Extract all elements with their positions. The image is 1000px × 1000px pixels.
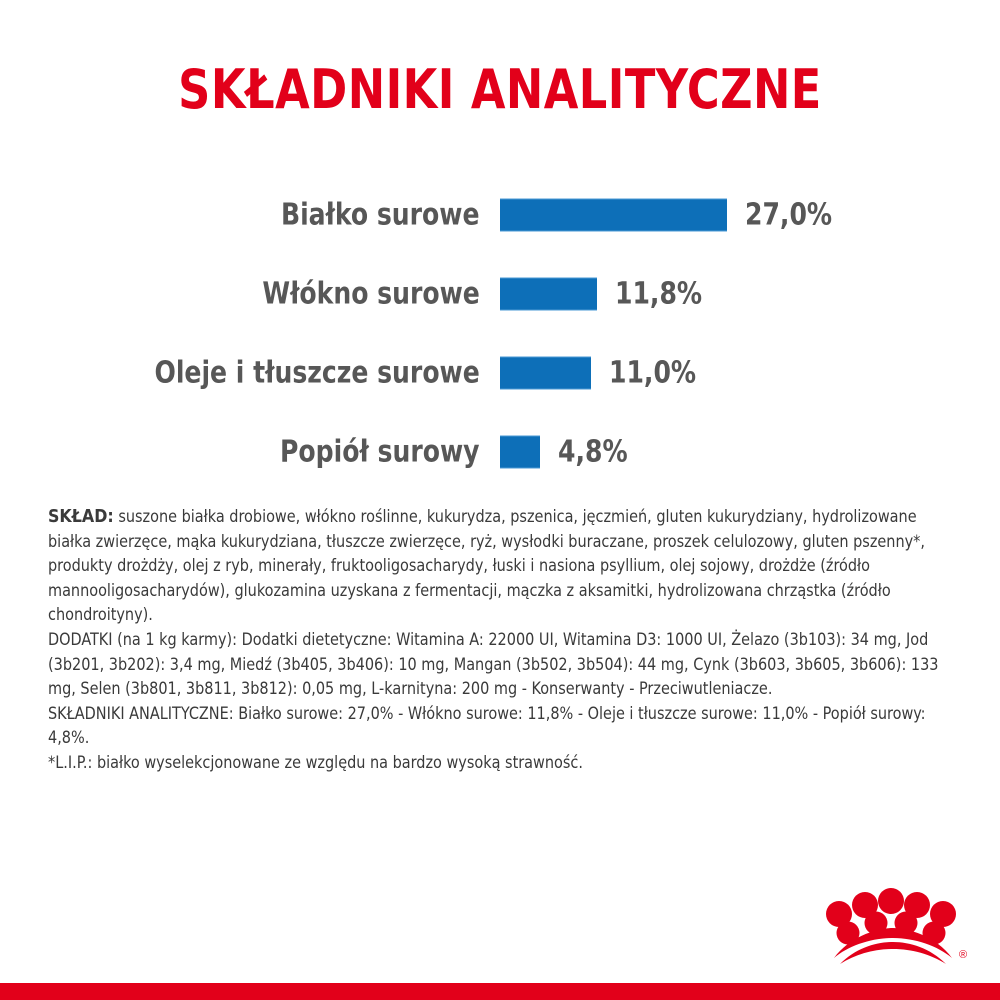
chart-row: Włókno surowe 11,8%: [0, 254, 1000, 333]
chart-row-value: 27,0%: [745, 197, 832, 232]
chart-bar-track: [500, 277, 597, 310]
chart-row-label: Białko surowe: [281, 197, 480, 232]
analytical-constituents-chart: Białko surowe 27,0% Włókno surowe 11,8% …: [0, 175, 1000, 491]
footer-accent-bar: [0, 983, 1000, 1000]
chart-bar-track: [500, 435, 540, 468]
chart-row-label: Oleje i tłuszcze surowe: [155, 355, 480, 390]
chart-row-value: 4,8%: [558, 434, 628, 469]
chart-bar-track: [500, 356, 591, 389]
crown-icon: ®: [818, 886, 968, 964]
chart-row-value: 11,8%: [615, 276, 702, 311]
chart-bar-track: [500, 198, 727, 231]
chart-bar-fill: [500, 277, 597, 310]
chart-row: Popiół surowy 4,8%: [0, 412, 1000, 491]
ingredients-block: SKŁAD: suszone białka drobiowe, włókno r…: [48, 505, 950, 776]
composition-text: suszone białka drobiowe, włókno roślinne…: [48, 507, 925, 624]
composition-heading: SKŁAD:: [48, 506, 114, 527]
chart-bar-fill: [500, 435, 540, 468]
lip-footnote: *L.I.P.: białko wyselekcjonowane ze wzgl…: [48, 751, 950, 776]
chart-bar-fill: [500, 198, 727, 231]
chart-row-value: 11,0%: [609, 355, 696, 390]
royal-canin-crown-logo: ®: [818, 886, 968, 964]
page-title: SKŁADNIKI ANALITYCZNE: [40, 58, 960, 121]
chart-row-label: Popiół surowy: [281, 434, 480, 469]
chart-bar-fill: [500, 356, 591, 389]
registered-mark: ®: [959, 949, 967, 961]
additives-paragraph: DODATKI (na 1 kg karmy): Dodatki dietety…: [48, 628, 950, 702]
page-root: SKŁADNIKI ANALITYCZNE Białko surowe 27,0…: [0, 0, 1000, 1000]
chart-row: Białko surowe 27,0%: [0, 175, 1000, 254]
analytical-paragraph: SKŁADNIKI ANALITYCZNE: Białko surowe: 27…: [48, 702, 950, 751]
chart-row: Oleje i tłuszcze surowe 11,0%: [0, 333, 1000, 412]
composition-paragraph: SKŁAD: suszone białka drobiowe, włókno r…: [48, 505, 950, 628]
chart-row-label: Włókno surowe: [263, 276, 480, 311]
